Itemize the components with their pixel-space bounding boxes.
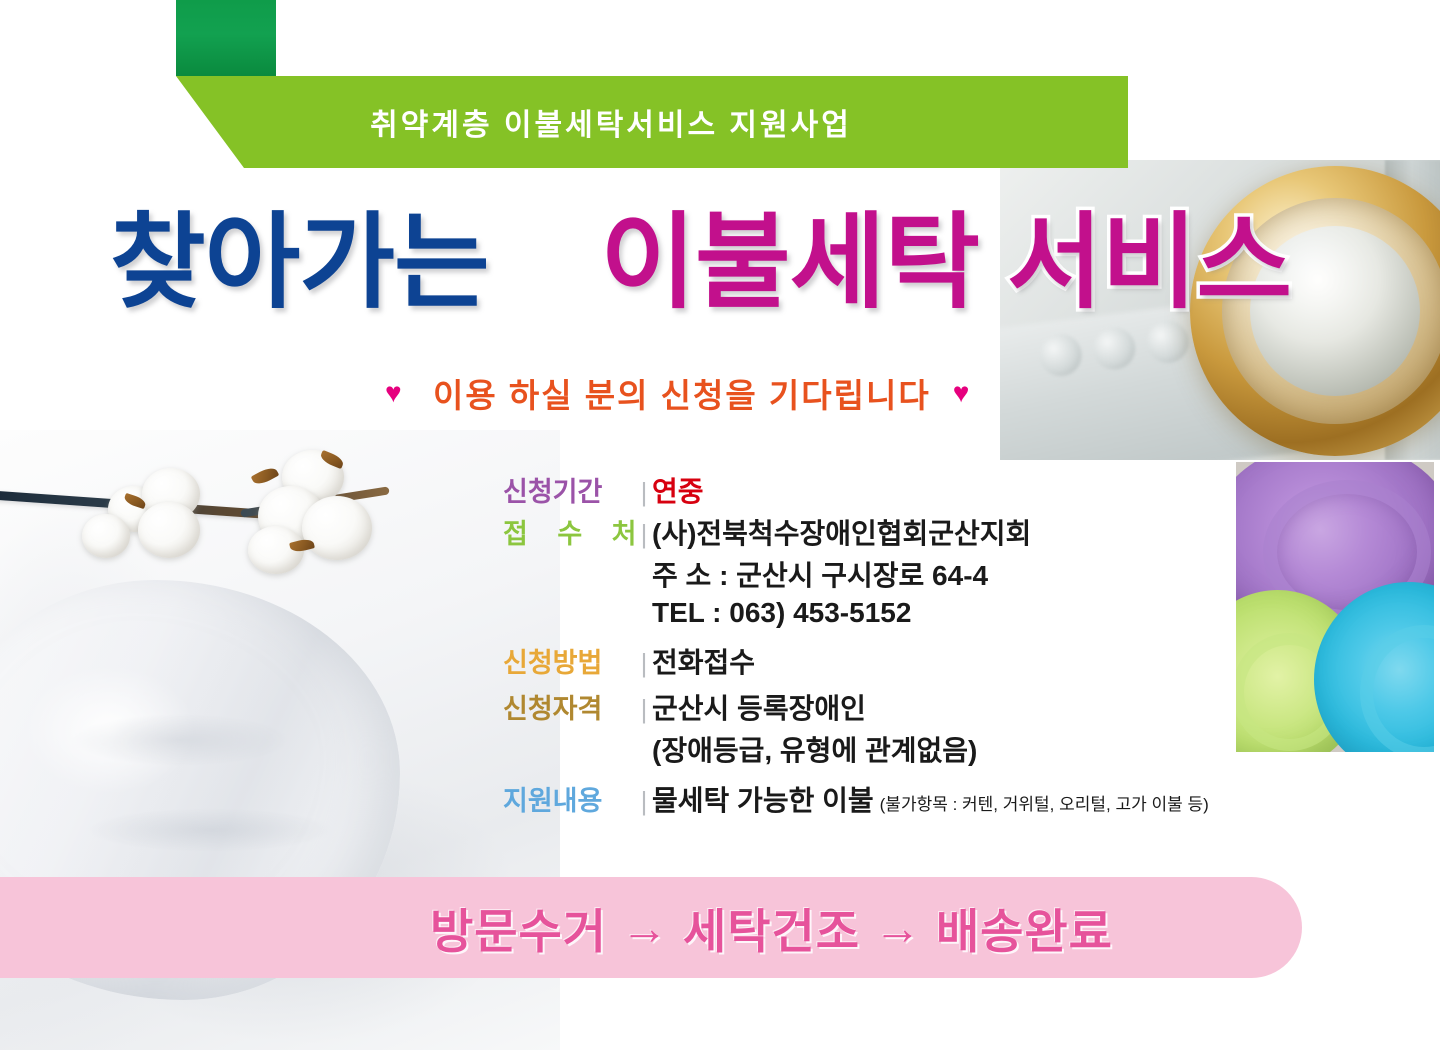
detail-value: 전화접수 bbox=[652, 641, 755, 681]
program-banner-text: 취약계층 이불세탁서비스 지원사업 bbox=[176, 76, 1046, 168]
detail-address: 주 소 : 군산시 구시장로 64-4 bbox=[652, 554, 1323, 594]
detail-separator: | bbox=[636, 519, 652, 550]
detail-value: 물세탁 가능한 이불 bbox=[652, 779, 874, 819]
detail-row-application-method: 신청방법 | 전화접수 bbox=[503, 641, 1323, 681]
title-part-navy: 찾아가는 bbox=[110, 205, 489, 321]
detail-row-receiving-office: 접 수 처 | (사)전북척수장애인협회군산지회 bbox=[503, 512, 1323, 552]
detail-label: 신청기간 bbox=[503, 470, 636, 509]
detail-exclusions-note: (불가항목 : 커텐, 거위털, 오리털, 고가 이불 등) bbox=[880, 790, 1209, 815]
program-details: 신청기간 | 연중 접 수 처 | (사)전북척수장애인협회군산지회 주 소 :… bbox=[503, 470, 1323, 821]
process-banner-text: 방문수거 → 세탁건조 → 배송완료 bbox=[430, 877, 1270, 978]
green-square-accent bbox=[176, 0, 276, 76]
detail-telephone: TEL : 063) 453-5152 bbox=[652, 597, 1323, 629]
arrow-icon-2: → bbox=[874, 900, 922, 955]
process-step-wash-dry: 세탁건조 bbox=[683, 893, 860, 962]
cotton-boll bbox=[302, 496, 372, 560]
cotton-boll bbox=[138, 502, 200, 558]
detail-label: 접 수 처 bbox=[503, 512, 636, 551]
detail-value: 군산시 등록장애인 bbox=[652, 687, 866, 727]
detail-value: (사)전북척수장애인협회군산지회 bbox=[652, 512, 1031, 552]
detail-label: 지원내용 bbox=[503, 779, 636, 818]
heart-icon-left: ♥ bbox=[385, 380, 411, 406]
arrow-icon-1: → bbox=[621, 900, 669, 955]
program-banner: 취약계층 이불세탁서비스 지원사업 bbox=[176, 76, 1128, 168]
detail-separator: | bbox=[636, 477, 652, 508]
detail-value: 연중 bbox=[652, 470, 704, 510]
detail-row-eligibility: 신청자격 | 군산시 등록장애인 bbox=[503, 687, 1323, 727]
detail-label: 신청자격 bbox=[503, 687, 636, 726]
detail-eligibility-note: (장애등급, 유형에 관계없음) bbox=[652, 729, 1323, 769]
detail-row-support-content: 지원내용 | 물세탁 가능한 이불 (불가항목 : 커텐, 거위털, 오리털, … bbox=[503, 779, 1323, 819]
cotton-husk bbox=[251, 465, 280, 488]
poster-root: 취약계층 이불세탁서비스 지원사업 찾아가는 이불세탁 서비스 ♥ 이용 하실 … bbox=[0, 0, 1440, 1050]
process-step-delivery: 배송완료 bbox=[936, 893, 1113, 962]
detail-row-application-period: 신청기간 | 연중 bbox=[503, 470, 1323, 510]
banner-stripe-accents bbox=[1044, 76, 1140, 168]
process-step-pickup: 방문수거 bbox=[430, 893, 607, 962]
detail-separator: | bbox=[636, 786, 652, 817]
cotton-boll bbox=[82, 514, 130, 558]
title-part-magenta: 이불세탁 서비스 bbox=[600, 205, 1291, 321]
banner-stripe bbox=[1044, 76, 1058, 168]
banner-stripe bbox=[1092, 76, 1106, 168]
heart-icon-right: ♥ bbox=[953, 380, 979, 406]
detail-label: 신청방법 bbox=[503, 641, 636, 680]
page-title: 찾아가는 이불세탁 서비스 bbox=[110, 198, 1360, 328]
subtitle: ♥ 이용 하실 분의 신청을 기다립니다 ♥ bbox=[385, 368, 1085, 418]
detail-separator: | bbox=[636, 648, 652, 679]
subtitle-text: 이용 하실 분의 신청을 기다립니다 bbox=[433, 369, 931, 417]
detail-separator: | bbox=[636, 694, 652, 725]
banner-stripe bbox=[1068, 76, 1082, 168]
cotton-branch-photo bbox=[0, 440, 420, 580]
